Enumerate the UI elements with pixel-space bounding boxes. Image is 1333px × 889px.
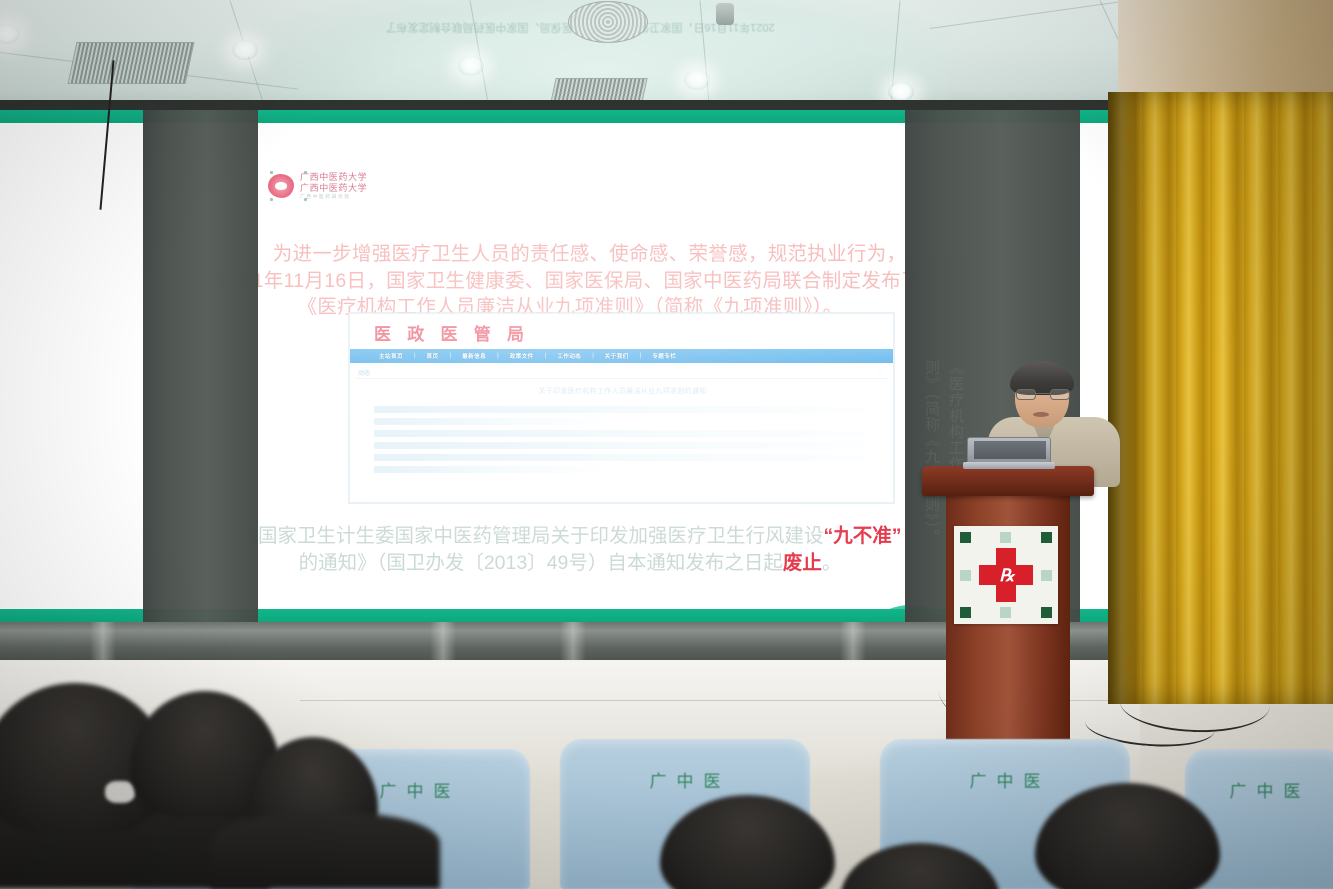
text-line (374, 418, 602, 425)
speaker-mouth (1033, 412, 1049, 417)
nav-item-4: 工作动态 (546, 352, 592, 360)
nav-item-2: 最新信息 (451, 352, 497, 360)
laptop[interactable] (963, 437, 1055, 469)
nav-item-5: 关于我们 (594, 352, 640, 360)
university-logo: 广西中医药大学 广西中医药大学 广 西 中 医 药 研 究 院 (268, 168, 428, 204)
ceiling-speaker (716, 3, 734, 25)
lens-left (1016, 389, 1036, 400)
stage-edge-highlight (560, 622, 586, 664)
ceiling-downlight (458, 56, 484, 76)
footer-text-pre2: 的通知》（国卫办发〔2013〕49号）自本通知发布之日起 (299, 552, 783, 574)
website-article-headline: 关于印发医疗机构工作人员廉洁从业九项准则的通知 (350, 386, 894, 396)
audience-shoulders (210, 813, 440, 889)
text-line (374, 454, 869, 461)
ceiling-downlight (684, 70, 710, 90)
ceiling-downlight (232, 40, 258, 60)
red-cross-icon: ℞ (979, 548, 1033, 602)
website-subnav-left: 动态 (358, 368, 370, 377)
hospital-swoosh-mark: ℞ (992, 566, 1022, 586)
text-line (374, 406, 869, 413)
website-nav-bar: 主站首页 | 首页 | 最新信息 | 政策文件 | 工作动态 | 关于我们 | … (350, 349, 894, 363)
footer-highlight-2: 废止 (783, 552, 822, 574)
stage-edge-highlight (430, 622, 456, 664)
audience-foreground: 广中医 广中医 广中医 广中医 广中医 (0, 690, 1333, 889)
panel-corner-square (1041, 607, 1052, 618)
website-divider (356, 378, 887, 379)
panel-corner-square (960, 532, 971, 543)
laptop-screen[interactable] (974, 441, 1046, 459)
podium-top-surface (922, 466, 1094, 496)
footer-period: 。 (822, 552, 842, 574)
panel-mid-square (1000, 607, 1011, 618)
curtain-shading (1108, 92, 1333, 704)
chair-label: 广中医 (560, 767, 810, 792)
text-line (374, 466, 602, 473)
ceiling-downlight (888, 82, 914, 102)
lecture-hall-photo: 2021年11月16日，国家卫生健康委、国家医保局、国家中医药局联合制定发布了 … (0, 0, 1333, 889)
panel-mid-square (960, 570, 971, 581)
footer-highlight-1: “九不准” (824, 525, 902, 547)
panel-corner-square (1041, 532, 1052, 543)
text-line (374, 430, 869, 437)
logo-decor-dots (268, 168, 428, 204)
chair-label: 广中医 (1185, 777, 1333, 802)
stage-edge-highlight (840, 622, 866, 664)
nav-item-3: 政策文件 (499, 352, 545, 360)
podium-logo-panel: ℞ (954, 526, 1058, 624)
stage-edge-highlight (90, 622, 116, 664)
ceiling-downlight (0, 24, 20, 44)
text-line (374, 442, 869, 449)
footer-text-pre1: 《国家卫生计生委国家中医药管理局关于印发加强医疗卫生行风建设 (238, 525, 823, 547)
website-title: 医 政 医 管 局 (374, 320, 530, 345)
laptop-lid (967, 437, 1051, 463)
panel-mid-square (1000, 532, 1011, 543)
round-air-vent (568, 1, 648, 43)
pillar-left (143, 110, 258, 622)
face-mask (105, 781, 135, 803)
nav-item-6: 专题专栏 (641, 352, 687, 360)
website-subnav-right: ··· (877, 368, 883, 374)
eyeglasses-icon (1016, 389, 1070, 401)
panel-corner-square (960, 607, 971, 618)
laptop-keyboard-base[interactable] (963, 462, 1055, 469)
website-body-text (374, 406, 869, 478)
panel-mid-square (1041, 570, 1052, 581)
lens-right (1050, 389, 1070, 400)
nav-item-0: 主站首页 (368, 352, 414, 360)
website-screenshot: 医 政 医 管 局 主站首页 | 首页 | 最新信息 | 政策文件 | 工作动态… (349, 313, 894, 503)
glasses-bridge (1036, 393, 1050, 394)
nav-item-1: 首页 (416, 352, 450, 360)
ceiling-air-vent (68, 42, 195, 84)
